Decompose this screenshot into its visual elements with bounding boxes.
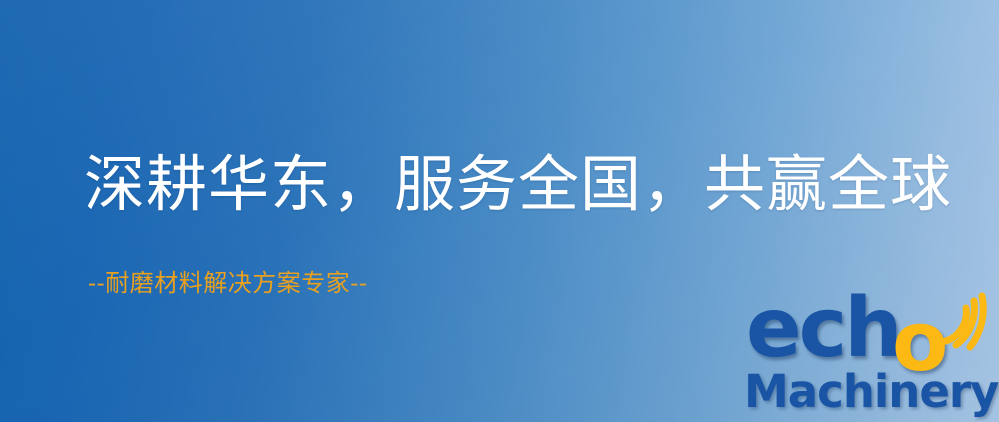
echo-wave-icon (932, 290, 999, 352)
company-logo[interactable]: ech o Machinery ® (744, 296, 996, 418)
banner-subtitle: --耐磨材料解决方案专家-- (88, 268, 367, 298)
logo-machinery-text: Machinery (744, 368, 998, 416)
logo-echo-text: ech (746, 288, 900, 370)
promo-banner: 深耕华东，服务全国，共赢全球 --耐磨材料解决方案专家-- ech o Mach… (0, 0, 999, 422)
logo-machinery-row: Machinery ® (744, 368, 999, 418)
logo-wordmark: ech o (744, 296, 996, 376)
banner-headline: 深耕华东，服务全国，共赢全球 (84, 152, 952, 218)
